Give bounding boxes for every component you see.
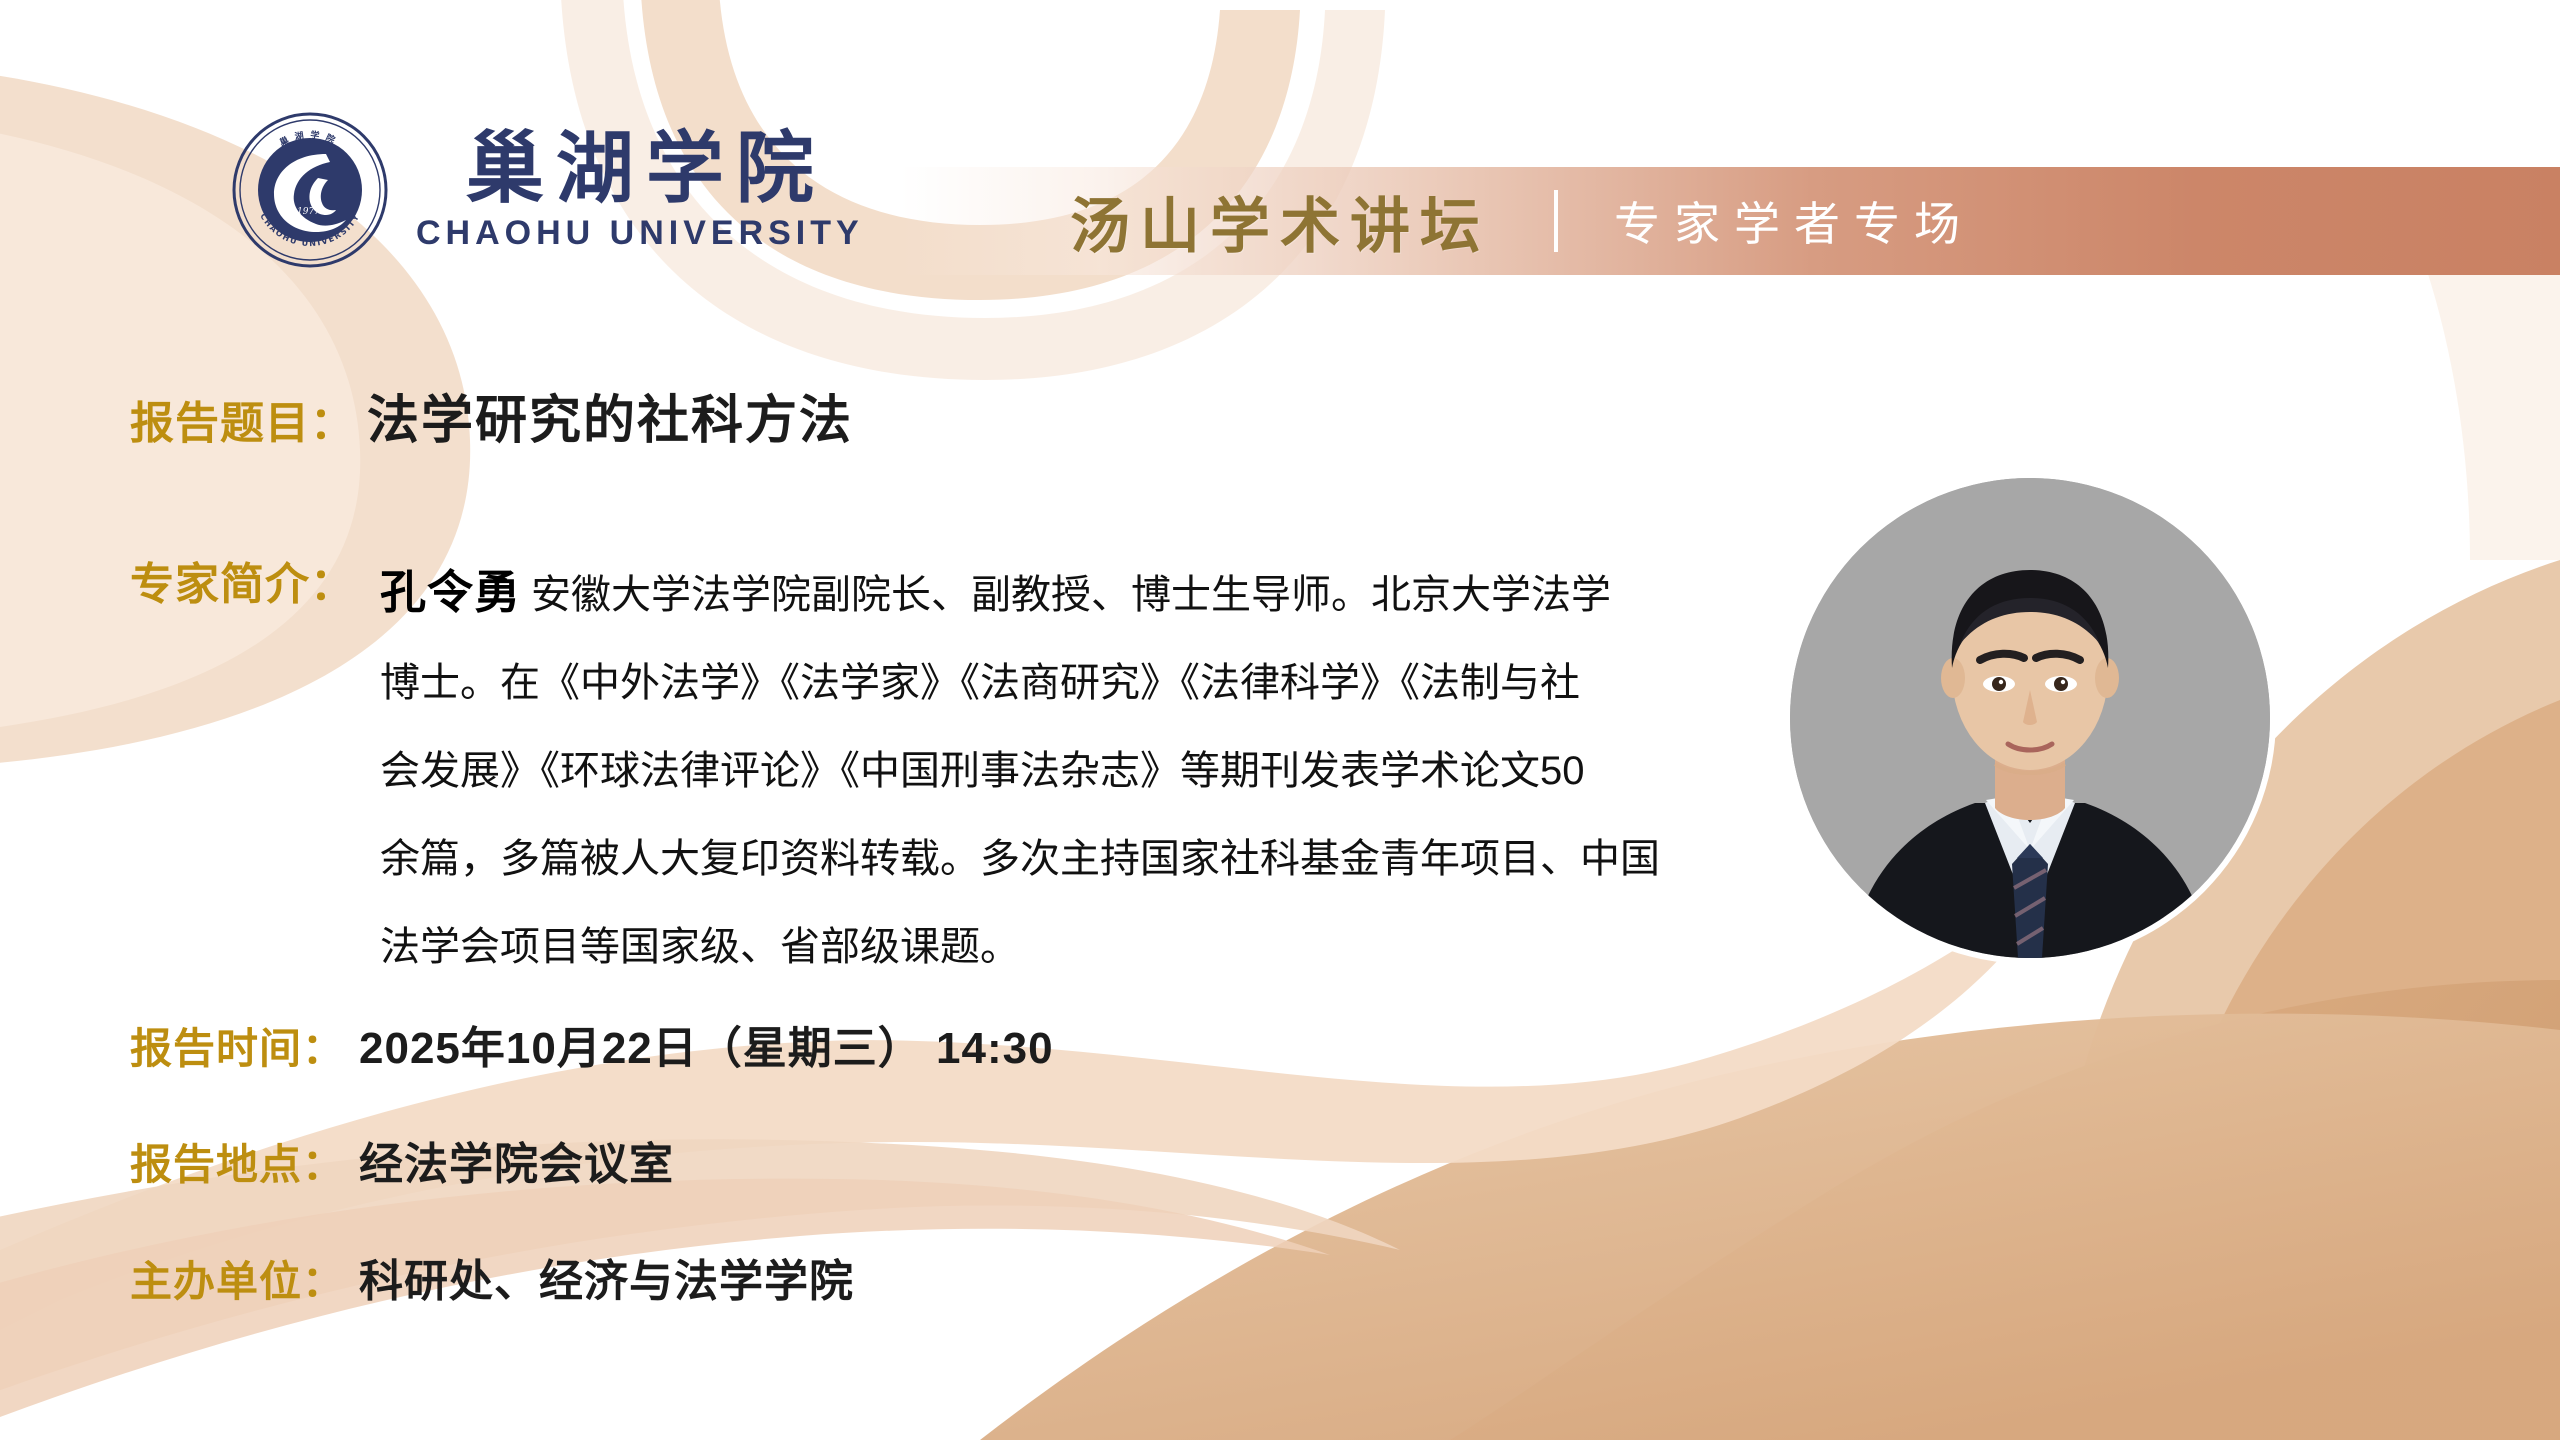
host-unit-label: 主办单位： bbox=[130, 1248, 345, 1309]
report-title-value: 法学研究的社科方法 bbox=[367, 378, 853, 453]
report-title-label: 报告题目： bbox=[130, 387, 355, 451]
report-place-row: 报告地点： 经法学院会议室 bbox=[130, 1128, 674, 1192]
poster-canvas: 汤山学术讲坛 专家学者专场 巢湖学院 bbox=[0, 0, 2560, 1440]
bio-line: 法学会项目等国家级、省部级课题。 bbox=[380, 903, 1830, 991]
speaker-bio-label: 专家简介： bbox=[130, 548, 355, 612]
report-title-row: 报告题目： 法学研究的社科方法 bbox=[130, 378, 853, 453]
bio-line: 余篇，多篇被人大复印资料转载。多次主持国家社科基金青年项目、中国 bbox=[380, 815, 1830, 903]
speaker-portrait bbox=[1790, 478, 2270, 958]
bio-line: 会发展》《环球法律评论》《中国刑事法杂志》等期刊发表学术论文50 bbox=[380, 727, 1830, 815]
portrait-illustration bbox=[1790, 478, 2270, 958]
bio-line: 孔令勇安徽大学法学院副院长、副教授、博士生导师。北京大学法学 bbox=[380, 548, 1830, 639]
speaker-bio-row: 专家简介： 孔令勇安徽大学法学院副院长、副教授、博士生导师。北京大学法学 博士。… bbox=[130, 548, 1830, 991]
speaker-bio-body: 孔令勇安徽大学法学院副院长、副教授、博士生导师。北京大学法学 博士。在《中外法学… bbox=[380, 548, 1830, 991]
speaker-name: 孔令勇 bbox=[380, 566, 521, 618]
bio-line-text: 安徽大学法学院副院长、副教授、博士生导师。北京大学法学 bbox=[531, 573, 1611, 617]
report-place-value: 经法学院会议室 bbox=[359, 1128, 674, 1192]
report-time-label: 报告时间： bbox=[130, 1015, 345, 1076]
bio-line: 博士。在《中外法学》《法学家》《法商研究》《法律科学》《法制与社 bbox=[380, 639, 1830, 727]
host-unit-value: 科研处、经济与法学学院 bbox=[359, 1245, 854, 1309]
host-unit-row: 主办单位： 科研处、经济与法学学院 bbox=[130, 1245, 854, 1309]
report-place-label: 报告地点： bbox=[130, 1131, 345, 1192]
report-time-value: 2025年10月22日（星期三） 14:30 bbox=[359, 1012, 1054, 1076]
report-time-row: 报告时间： 2025年10月22日（星期三） 14:30 bbox=[130, 1012, 1054, 1076]
